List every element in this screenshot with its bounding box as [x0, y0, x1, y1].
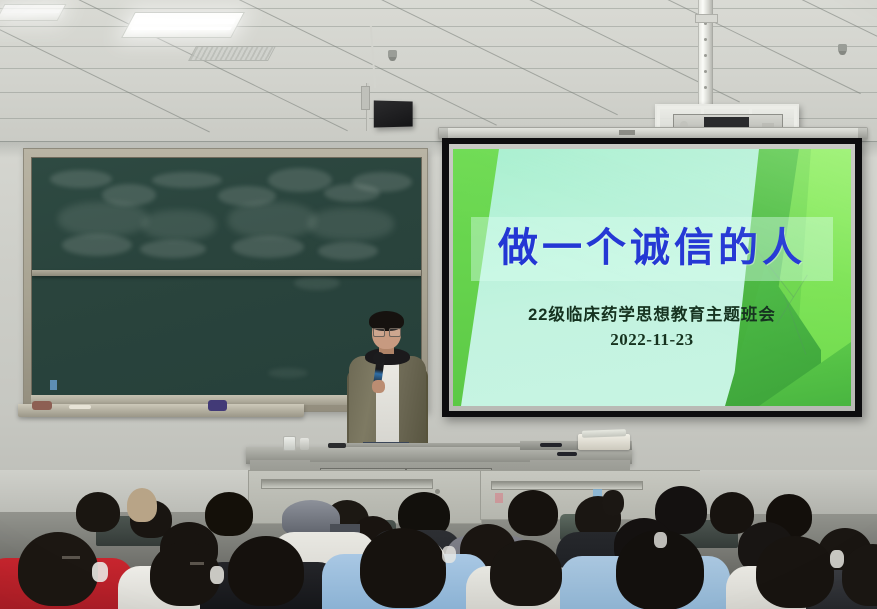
marker-pen: [540, 443, 562, 447]
classroom-photo: 做一个诚信的人 22级临床药学思想教育主题班会 2022-11-23: [0, 0, 877, 609]
projection-screen-frame: 做一个诚信的人 22级临床药学思想教育主题班会 2022-11-23: [442, 138, 862, 417]
speaker-bracket: [361, 86, 370, 110]
remote-control: [328, 443, 346, 448]
microphone-head: [373, 352, 385, 364]
fluorescent-light-panel: [121, 12, 245, 38]
student-head: [490, 540, 562, 606]
audience-area: [0, 470, 877, 609]
water-cup: [283, 436, 296, 451]
presenter-glasses-left: [373, 328, 385, 337]
student-head-light-hair: [127, 488, 157, 522]
slide-date: 2022-11-23: [453, 330, 851, 350]
marker-pen-2: [557, 452, 577, 456]
student-head: [18, 532, 98, 606]
slide-subtitle: 22级临床药学思想教育主题班会: [453, 301, 851, 325]
presenter: [341, 306, 433, 456]
sprinkler-head-right: [838, 44, 847, 54]
face-mask: [654, 532, 667, 548]
wall-mounted-speaker: [374, 100, 413, 127]
slide-title: 做一个诚信的人: [453, 221, 851, 275]
student-head: [756, 536, 834, 608]
student-head: [228, 536, 304, 606]
student-head-ponytail: [602, 490, 624, 516]
eraser-cloth-red: [32, 401, 52, 410]
blackboard-divider: [32, 270, 421, 276]
student-head: [508, 490, 558, 536]
face-mask: [210, 566, 224, 584]
face-mask: [830, 550, 844, 568]
presenter-hand: [372, 380, 385, 393]
presenter-glasses-right: [389, 328, 401, 337]
projected-slide: 做一个诚信的人 22级临床药学思想教育主题班会 2022-11-23: [453, 149, 851, 406]
fluorescent-light-panel-far: [0, 4, 67, 21]
student-head: [205, 492, 253, 536]
projector-mount-pole: [698, 0, 713, 108]
chalk-ledge: [18, 404, 304, 417]
ceiling-vent-panel: [188, 46, 276, 61]
chalk-stick: [69, 405, 91, 409]
eraser-cloth-purple: [208, 400, 227, 411]
eyeglasses-temple: [190, 562, 204, 565]
eyeglasses-temple: [62, 556, 80, 559]
projection-screen-surface: 做一个诚信的人 22级临床药学思想教育主题班会 2022-11-23: [449, 144, 855, 411]
face-mask: [442, 546, 456, 563]
student-head: [360, 528, 446, 608]
face-mask: [92, 562, 108, 582]
student-head: [76, 492, 120, 532]
sprinkler-head: [388, 50, 397, 60]
thermos-cup: [300, 438, 309, 450]
